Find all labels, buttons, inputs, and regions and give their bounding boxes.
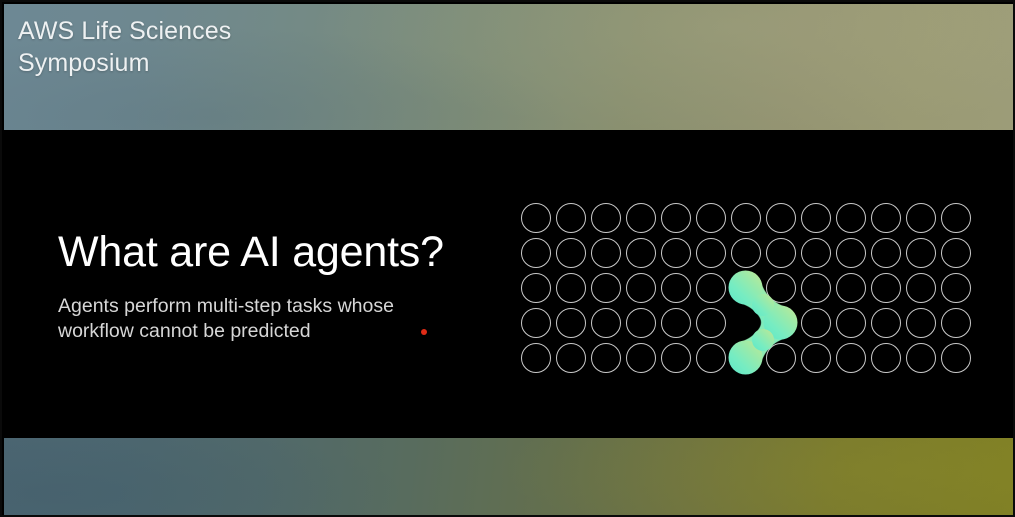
grid-dot <box>521 308 551 338</box>
grid-dot <box>591 273 621 303</box>
grid-dot <box>696 238 726 268</box>
grid-dot <box>906 308 936 338</box>
grid-dot <box>696 343 726 373</box>
grid-dot <box>556 203 586 233</box>
agent-dot-grid-graphic <box>518 200 973 378</box>
grid-dot <box>591 343 621 373</box>
grid-dot <box>521 203 551 233</box>
grid-dot <box>661 238 691 268</box>
slide-subheading-line-1: Agents perform multi-step tasks whose <box>58 295 394 317</box>
grid-dot <box>661 273 691 303</box>
slide-heading: What are AI agents? <box>58 230 478 276</box>
grid-dot <box>836 203 866 233</box>
event-title-line-2: Symposium <box>18 47 538 79</box>
grid-dot <box>626 343 656 373</box>
grid-dot <box>556 308 586 338</box>
grid-dot <box>556 343 586 373</box>
grid-dot <box>836 273 866 303</box>
grid-dot <box>836 308 866 338</box>
grid-dot <box>906 273 936 303</box>
grid-dot <box>696 273 726 303</box>
slide-copy-block: What are AI agents? Agents perform multi… <box>58 230 478 345</box>
grid-dot <box>696 203 726 233</box>
grid-dot <box>591 203 621 233</box>
grid-dot <box>766 273 796 303</box>
grid-dot <box>731 238 761 268</box>
grid-dot <box>801 238 831 268</box>
grid-dot <box>731 343 761 373</box>
dot-grid <box>518 200 973 378</box>
event-title: AWS Life Sciences Symposium <box>18 15 538 79</box>
grid-dot <box>941 343 971 373</box>
grid-dot <box>801 273 831 303</box>
grid-dot <box>801 203 831 233</box>
grid-dot <box>871 203 901 233</box>
grid-dot <box>626 308 656 338</box>
laser-pointer-dot <box>421 329 427 335</box>
grid-dot <box>731 273 761 303</box>
grid-dot <box>521 273 551 303</box>
presentation-slide: AWS Life Sciences Symposium What are AI … <box>0 0 1015 517</box>
grid-dot <box>731 203 761 233</box>
grid-dot <box>871 238 901 268</box>
slide-footer-band <box>4 438 1015 517</box>
event-title-line-1: AWS Life Sciences <box>18 15 538 47</box>
grid-dot <box>941 273 971 303</box>
grid-dot <box>801 343 831 373</box>
grid-dot <box>766 238 796 268</box>
grid-dot <box>766 308 796 338</box>
grid-dot <box>591 238 621 268</box>
grid-dot <box>556 238 586 268</box>
grid-dot <box>801 308 831 338</box>
grid-dot <box>661 203 691 233</box>
grid-dot <box>731 308 761 338</box>
slide-subheading-line-2: workflow cannot be predicted <box>58 320 311 342</box>
grid-dot <box>871 343 901 373</box>
grid-dot <box>556 273 586 303</box>
grid-dot <box>906 203 936 233</box>
grid-dot <box>626 238 656 268</box>
grid-dot <box>871 273 901 303</box>
grid-dot <box>766 343 796 373</box>
grid-dot <box>836 343 866 373</box>
grid-dot <box>521 343 551 373</box>
grid-dot <box>906 343 936 373</box>
grid-dot <box>906 238 936 268</box>
grid-dot <box>591 308 621 338</box>
grid-dot <box>941 203 971 233</box>
grid-dot <box>626 203 656 233</box>
grid-dot <box>521 238 551 268</box>
grid-dot <box>766 203 796 233</box>
slide-header-band: AWS Life Sciences Symposium <box>4 4 1015 130</box>
grid-dot <box>661 308 691 338</box>
grid-dot <box>661 343 691 373</box>
grid-dot <box>696 308 726 338</box>
slide-subheading: Agents perform multi-step tasks whose wo… <box>58 294 418 345</box>
slide-content-stage: What are AI agents? Agents perform multi… <box>4 130 1015 433</box>
grid-dot <box>626 273 656 303</box>
grid-dot <box>836 238 866 268</box>
grid-dot <box>871 308 901 338</box>
grid-dot <box>941 238 971 268</box>
grid-dot <box>941 308 971 338</box>
